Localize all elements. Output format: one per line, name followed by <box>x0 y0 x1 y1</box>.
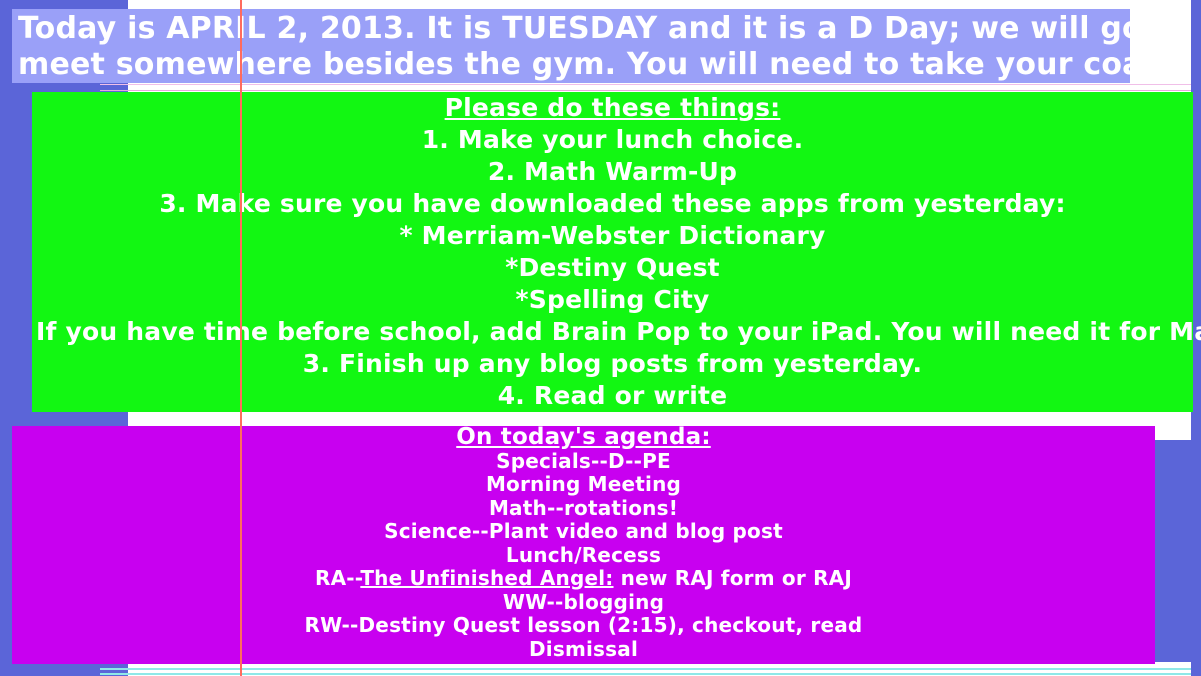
horizontal-guide-bottom <box>100 668 1191 670</box>
tasks-line: * Merriam-Webster Dictionary <box>36 220 1189 252</box>
tasks-line: If you have time before school, add Brai… <box>36 316 1189 348</box>
agenda-line: Lunch/Recess <box>16 544 1151 568</box>
agenda-reading-suffix: new RAJ form or RAJ <box>614 566 852 590</box>
agenda-heading: On today's agenda: <box>16 426 1151 450</box>
horizontal-guide-top-secondary <box>100 90 1191 91</box>
slide-canvas: Today is APRIL 2, 2013. It is TUESDAY an… <box>0 0 1201 676</box>
vertical-guide-line <box>240 0 242 676</box>
tasks-heading: Please do these things: <box>36 92 1189 124</box>
agenda-line: Morning Meeting <box>16 473 1151 497</box>
announcement-line-2: meet somewhere besides the gym. You will… <box>18 47 1124 83</box>
agenda-line: RW--Destiny Quest lesson (2:15), checkou… <box>16 614 1151 638</box>
tasks-line: 4. Read or write <box>36 380 1189 412</box>
agenda-line: Math--rotations! <box>16 497 1151 521</box>
tasks-line: *Destiny Quest <box>36 252 1189 284</box>
announcement-line-1: Today is APRIL 2, 2013. It is TUESDAY an… <box>18 11 1124 47</box>
tasks-textbox[interactable]: Please do these things: 1. Make your lun… <box>32 92 1193 412</box>
agenda-line: WW--blogging <box>16 591 1151 615</box>
tasks-line: 3. Finish up any blog posts from yesterd… <box>36 348 1189 380</box>
tasks-line: *Spelling City <box>36 284 1189 316</box>
tasks-line: 3. Make sure you have downloaded these a… <box>36 188 1189 220</box>
agenda-reading-line: RA--The Unfinished Angel: new RAJ form o… <box>16 567 1151 591</box>
agenda-textbox[interactable]: On today's agenda: Specials--D--PE Morni… <box>12 426 1155 664</box>
tasks-line: 1. Make your lunch choice. <box>36 124 1189 156</box>
tasks-line: 2. Math Warm-Up <box>36 156 1189 188</box>
agenda-line: Science--Plant video and blog post <box>16 520 1151 544</box>
horizontal-guide-bottom-secondary <box>100 673 1191 675</box>
horizontal-guide-top <box>100 84 1191 85</box>
announcement-textbox[interactable]: Today is APRIL 2, 2013. It is TUESDAY an… <box>12 9 1130 83</box>
agenda-line: Dismissal <box>16 638 1151 662</box>
agenda-line: Specials--D--PE <box>16 450 1151 474</box>
agenda-reading-prefix: RA-- <box>315 566 360 590</box>
agenda-reading-book-title: The Unfinished Angel: <box>360 566 613 590</box>
